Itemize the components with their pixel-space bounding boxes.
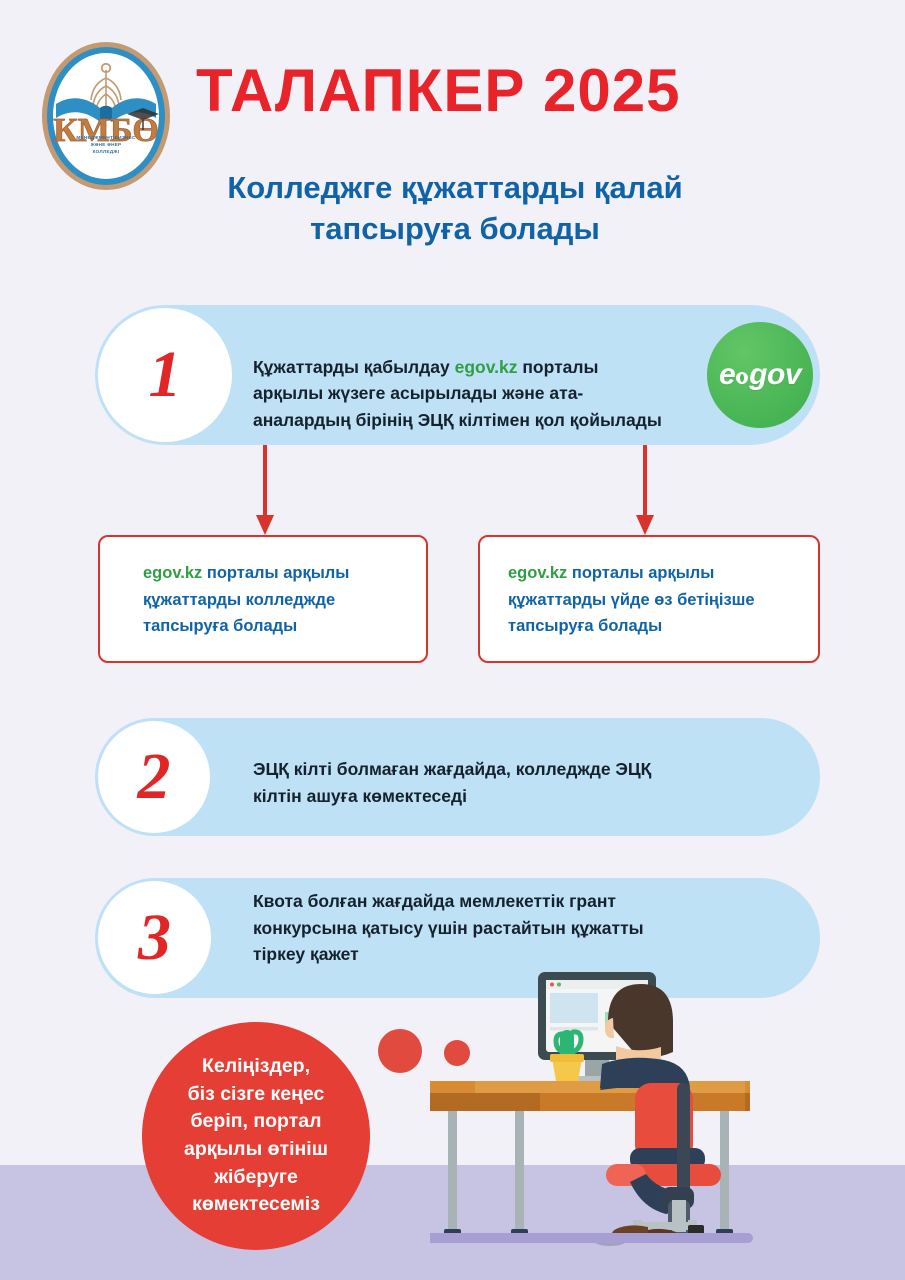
infographic-page: КМБӨ МЕНЕДЖМЕНТ БИЗНЕС ЖӘНЕ ӨНЕР КОЛЛЕДЖ… — [0, 0, 905, 1280]
egov-dot-icon — [736, 372, 748, 384]
page-title: ТАЛАПКЕР 2025 — [196, 56, 681, 125]
page-subtitle: Колледжге құжаттарды қалай тапсыруға бол… — [150, 168, 760, 250]
cactus-plant-icon — [550, 1030, 584, 1081]
option-box-home-text: egov.kz порталы арқылы құжаттарды үйде ө… — [508, 560, 798, 640]
cta-circle[interactable]: Келіңіздер, біз сізге кеңес беріп, порта… — [142, 1022, 370, 1250]
egov-badge-icon[interactable]: egov — [707, 322, 813, 428]
cta-text: Келіңіздер, біз сізге кеңес беріп, порта… — [184, 1053, 328, 1219]
arrow-down-left-icon — [250, 445, 280, 537]
step-1-number: 1 — [149, 342, 182, 408]
step-3-number-circle: 3 — [98, 881, 211, 994]
option-left-egov-link[interactable]: egov.kz — [143, 564, 202, 582]
egov-badge-label: egov — [719, 358, 801, 392]
option-right-egov-link[interactable]: egov.kz — [508, 564, 567, 582]
logo-caption: МЕНЕДЖМЕНТ БИЗНЕС ЖӘНЕ ӨНЕР КОЛЛЕДЖІ — [64, 134, 148, 155]
floor-shadow — [430, 1233, 753, 1243]
arrow-down-right-icon — [630, 445, 660, 537]
step-1-text: Құжаттарды қабылдау egov.kz порталы арқы… — [253, 327, 673, 433]
step-1-egov-link[interactable]: egov.kz — [455, 357, 518, 377]
option-box-college-text: egov.kz порталы арқылы құжаттарды коллед… — [143, 560, 408, 640]
person-at-desk-icon — [594, 984, 721, 1246]
step-2-text: ЭЦҚ кілті болмаған жағдайда, колледжде Э… — [253, 756, 673, 809]
decorative-dot-large — [378, 1029, 422, 1073]
egov-suffix: gov — [749, 358, 801, 392]
step-2-number-circle: 2 — [98, 721, 210, 833]
step-1-number-circle: 1 — [98, 308, 232, 442]
egov-prefix: e — [719, 358, 735, 392]
header: КМБӨ МЕНЕДЖМЕНТ БИЗНЕС ЖӘНЕ ӨНЕР КОЛЛЕДЖ… — [0, 0, 905, 290]
step-2-number: 2 — [138, 744, 171, 810]
step-3-number: 3 — [138, 905, 171, 971]
desk-workspace-illustration — [430, 950, 905, 1280]
step-1-text-before: Құжаттарды қабылдау — [253, 357, 455, 377]
